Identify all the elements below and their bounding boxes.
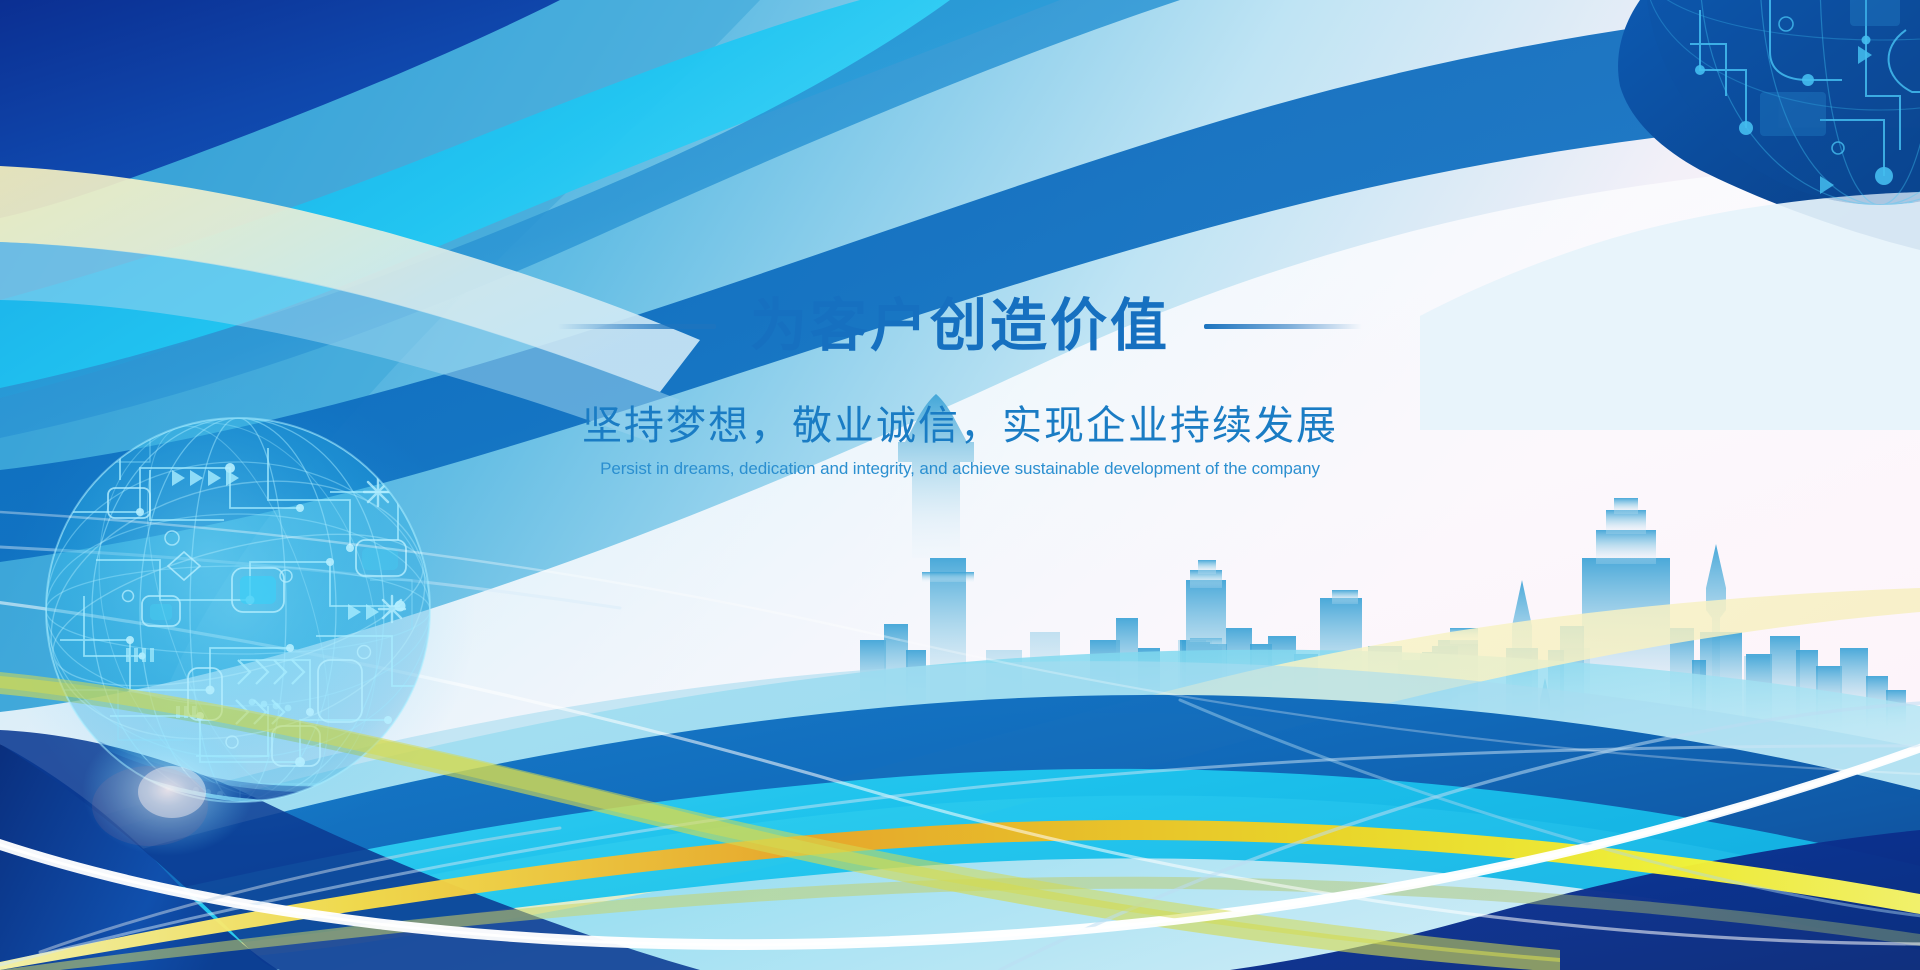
corporate-banner: 为客户创造价值 坚持梦想，敬业诚信，实现企业持续发展 Persist in dr… xyxy=(0,0,1920,970)
banner-background-artwork xyxy=(0,0,1920,970)
